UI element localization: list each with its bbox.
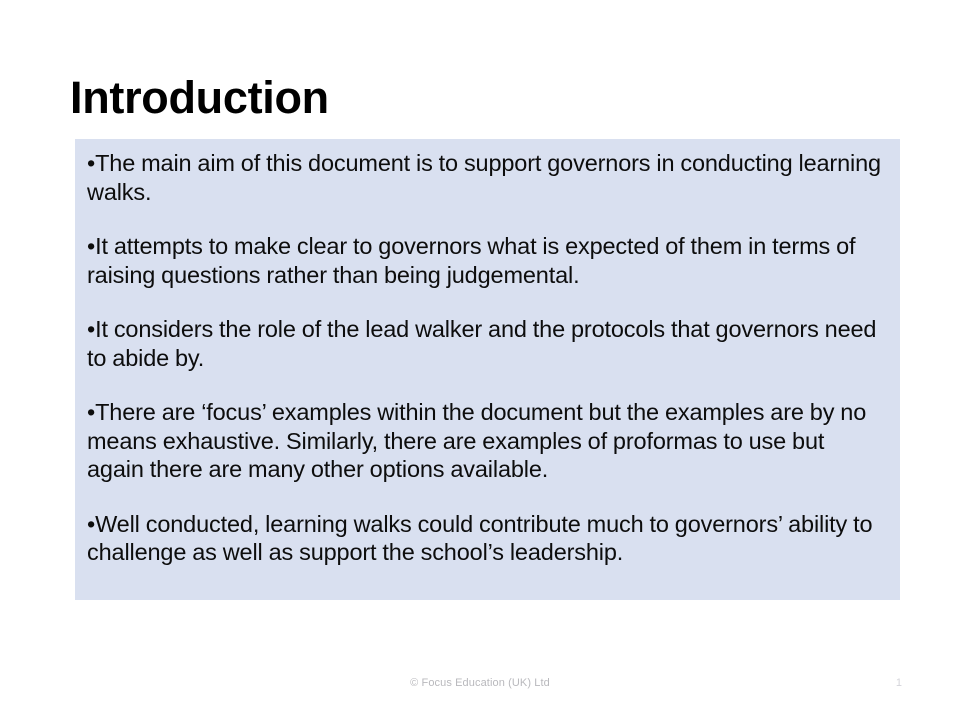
bullet-marker-icon: • (87, 399, 95, 425)
list-item-text: The main aim of this document is to supp… (87, 150, 881, 205)
bullet-list: •The main aim of this document is to sup… (87, 149, 886, 567)
bullet-marker-icon: • (87, 233, 95, 259)
list-item-text: There are ‘focus’ examples within the do… (87, 399, 866, 482)
page-number: 1 (896, 676, 902, 690)
copyright-notice: © Focus Education (UK) Ltd (0, 676, 960, 690)
list-item: •There are ‘focus’ examples within the d… (87, 398, 886, 484)
list-item-text: It considers the role of the lead walker… (87, 316, 876, 371)
slide-footer: © Focus Education (UK) Ltd 1 (0, 676, 960, 696)
list-item: •Well conducted, learning walks could co… (87, 510, 886, 567)
page-title: Introduction (70, 72, 910, 124)
bullet-marker-icon: • (87, 316, 95, 342)
list-item: •The main aim of this document is to sup… (87, 149, 886, 206)
bullet-marker-icon: • (87, 511, 95, 537)
content-body-box: •The main aim of this document is to sup… (75, 139, 900, 600)
list-item-text: Well conducted, learning walks could con… (87, 511, 872, 566)
presentation-slide: Introduction •The main aim of this docum… (0, 0, 960, 720)
list-item-text: It attempts to make clear to governors w… (87, 233, 855, 288)
list-item: •It attempts to make clear to governors … (87, 232, 886, 289)
list-item: •It considers the role of the lead walke… (87, 315, 886, 372)
bullet-marker-icon: • (87, 150, 95, 176)
